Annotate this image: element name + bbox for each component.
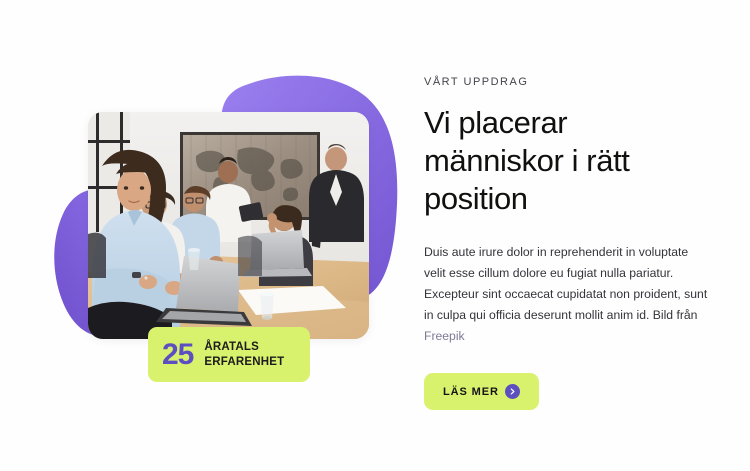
water-glass-2 [188, 248, 200, 270]
read-more-label: LÄS MER [443, 386, 499, 398]
office-meeting-illustration [88, 112, 369, 339]
experience-badge: 25 ÅRATALS ERFARENHET [148, 327, 310, 382]
chevron-right-icon [505, 384, 520, 399]
freepik-link[interactable]: Freepik [424, 329, 465, 343]
paragraph-text: Duis aute irure dolor in reprehenderit i… [424, 245, 707, 322]
section-eyebrow: VÅRT UPPDRAG [424, 76, 714, 88]
page-title: Vi placerar människor i rätt position [424, 104, 714, 218]
hero-photo [88, 112, 369, 339]
badge-text: ÅRATALS ERFARENHET [204, 340, 284, 368]
badge-number: 25 [162, 340, 193, 370]
visual-composition: 25 ÅRATALS ERFARENHET [0, 0, 420, 466]
badge-line-2: ERFARENHET [204, 356, 284, 368]
landing-section: 25 ÅRATALS ERFARENHET VÅRT UPPDRAG Vi pl… [0, 0, 750, 466]
water-glass [260, 292, 274, 320]
content-column: VÅRT UPPDRAG Vi placerar människor i rät… [424, 76, 714, 410]
badge-line-1: ÅRATALS [204, 341, 259, 353]
section-paragraph: Duis aute irure dolor in reprehenderit i… [424, 242, 709, 347]
read-more-button[interactable]: LÄS MER [424, 373, 539, 410]
